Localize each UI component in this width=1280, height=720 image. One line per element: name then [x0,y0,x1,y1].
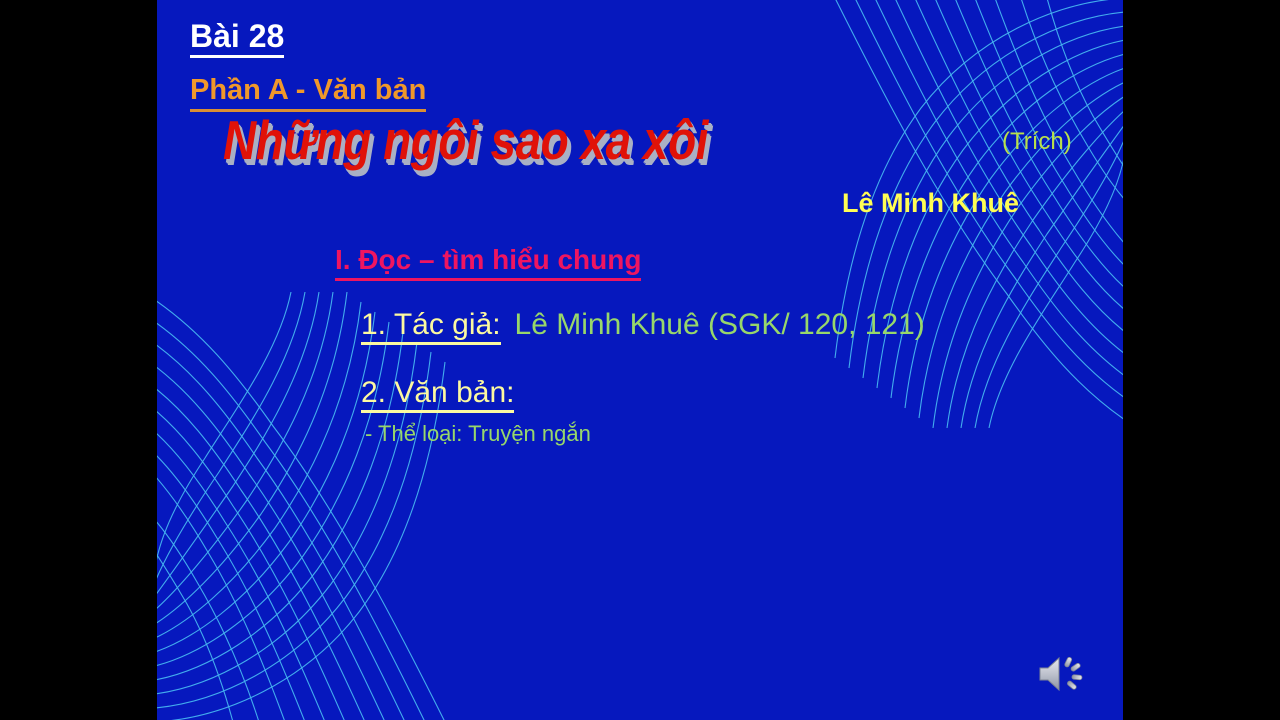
content-item-1: 1. Tác giả:Lê Minh Khuê (SGK/ 120, 121) [361,310,925,345]
part-label: Phần A - Văn bản [190,76,426,112]
corner-mesh-bottom-left [157,292,455,720]
content-item-1-label: 1. Tác giả: [361,310,501,345]
author-name: Lê Minh Khuê [842,190,1019,217]
speaker-icon[interactable] [1037,650,1091,698]
content-item-1-value: Lê Minh Khuê (SGK/ 120, 121) [515,308,925,341]
lesson-label: Bài 28 [190,20,284,58]
content-item-2-label: 2. Văn bản: [361,378,514,413]
presentation-viewport: Bài 28 Phần A - Văn bản Những ngôi sao x… [0,0,1280,720]
section-heading: I. Đọc – tìm hiểu chung [335,246,641,281]
excerpt-note: (Trích) [1002,130,1072,154]
content-item-2-detail: - Thể loại: Truyện ngắn [365,423,591,445]
slide-canvas: Bài 28 Phần A - Văn bản Những ngôi sao x… [157,0,1123,720]
work-title: Những ngôi sao xa xôi [223,113,708,167]
